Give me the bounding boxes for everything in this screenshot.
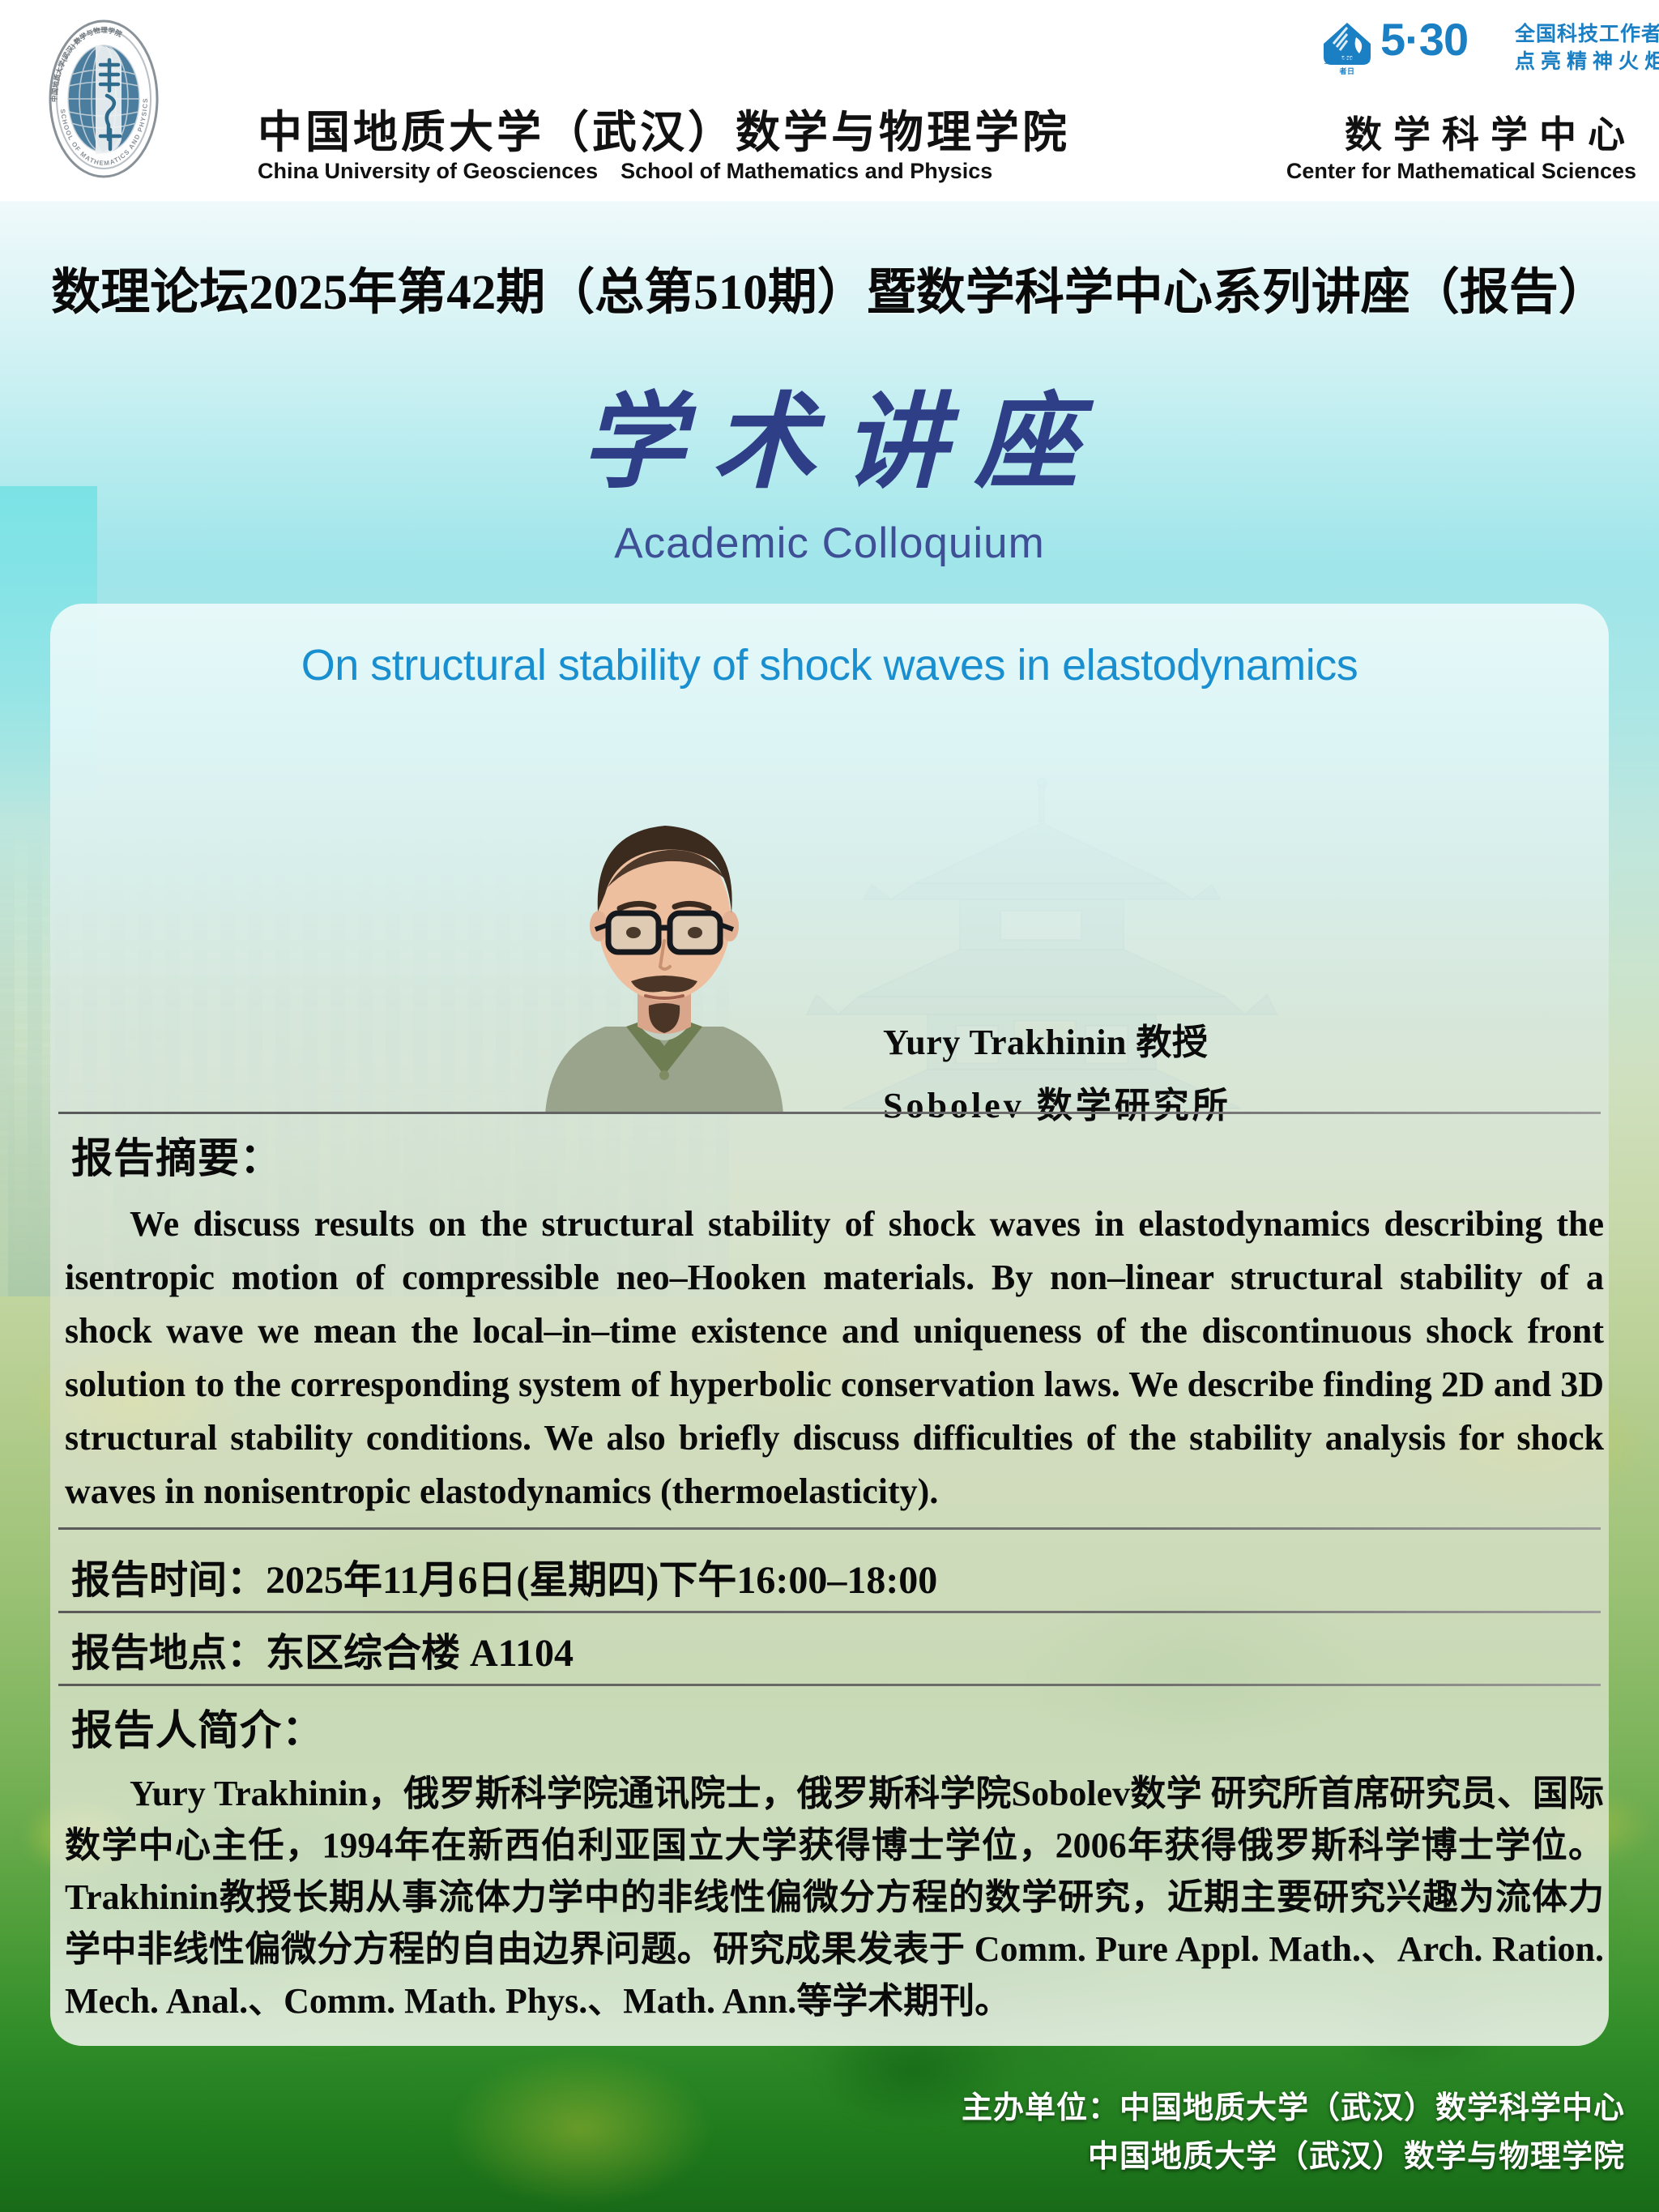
speaker-name: Yury Trakhinin 教授 <box>883 1013 1231 1065</box>
university-name-en-line1: China University of Geosciences <box>258 159 598 183</box>
abstract-heading: 报告摘要： <box>71 1125 282 1185</box>
forum-series-title: 数理论坛2025年第42期（总第510期）暨数学科学中心系列讲座（报告） <box>0 251 1659 323</box>
speaker-affiliation: Sobolev 数学研究所 <box>883 1076 1231 1128</box>
talk-time-line: 报告时间：2025年11月6日(星期四)下午16:00–18:00 <box>71 1548 937 1604</box>
center-name-cn: 数学科学中心 <box>1345 105 1636 159</box>
talk-place-value: 东区综合楼 A1104 <box>266 1632 574 1675</box>
talk-place-line: 报告地点：东区综合楼 A1104 <box>71 1621 574 1677</box>
badge-date-number: 5·30 <box>1380 13 1468 66</box>
divider-abstract <box>58 1112 1601 1114</box>
calligraphy-title-en: Academic Colloquium <box>0 519 1659 568</box>
badge-slogan-line2: 点亮精神火炬 <box>1515 45 1659 75</box>
talk-time-value: 2025年11月6日(星期四)下午16:00–18:00 <box>266 1559 937 1602</box>
divider-time <box>58 1527 1601 1530</box>
page-header: 中国地质大学(武汉) 数学与物理学院 SCHOOL OF MATHEMATICS… <box>0 0 1659 201</box>
divider-place <box>58 1611 1601 1613</box>
calligraphy-title-cn: 学术讲座 <box>0 358 1659 508</box>
bio-heading: 报告人简介： <box>71 1697 324 1757</box>
organizer-line-2: 中国地质大学（武汉）数学与物理学院 <box>962 2133 1625 2181</box>
bio-text: Yury Trakhinin，俄罗斯科学院通讯院士，俄罗斯科学院Sobolev数… <box>65 1768 1604 2027</box>
talk-place-label: 报告地点： <box>71 1632 266 1675</box>
poster-root: 中国地质大学(武汉) 数学与物理学院 SCHOOL OF MATHEMATICS… <box>0 0 1659 2212</box>
science-workers-day-badge: 5·30 全国科技工作者日 5·30 全国科技工作者日 点亮精神火炬 <box>1320 15 1636 75</box>
badge-slogan-line1: 全国科技工作者日 <box>1515 18 1659 47</box>
organizer-line-1: 主办单位：中国地质大学（武汉）数学科学中心 <box>962 2084 1625 2133</box>
university-name-en: China University of GeosciencesSchool of… <box>258 159 992 184</box>
center-name-en: Center for Mathematical Sciences <box>1286 159 1636 184</box>
divider-bio <box>58 1684 1601 1686</box>
organizers-footer: 主办单位：中国地质大学（武汉）数学科学中心 中国地质大学（武汉）数学与物理学院 <box>962 2084 1625 2181</box>
abstract-text: We discuss results on the structural sta… <box>65 1198 1604 1518</box>
talk-title: On structural stability of shock waves i… <box>0 640 1659 690</box>
university-emblem-logo: 中国地质大学(武汉) 数学与物理学院 SCHOOL OF MATHEMATICS… <box>47 18 160 180</box>
school-name-en: School of Mathematics and Physics <box>621 159 992 183</box>
university-name-cn: 中国地质大学（武汉）数学与物理学院 <box>258 96 1070 160</box>
speaker-info: Yury Trakhinin 教授 Sobolev 数学研究所 <box>883 1013 1231 1128</box>
talk-time-label: 报告时间： <box>71 1559 266 1602</box>
badge-mark-caption: 全国科技工作者日 <box>1320 55 1374 76</box>
speaker-portrait <box>531 790 798 1114</box>
